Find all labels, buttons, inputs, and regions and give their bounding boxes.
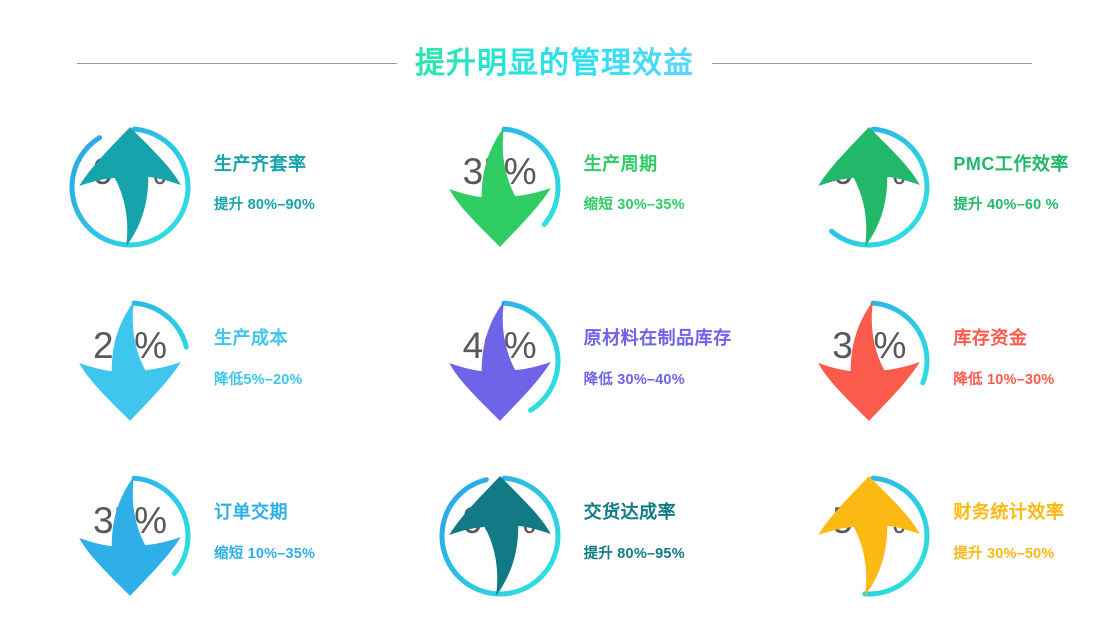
metric-card: 20%生产成本降低5%–20% bbox=[0, 274, 370, 448]
metric-text-block: 生产周期缩短 30%–35% bbox=[584, 154, 685, 215]
metric-text-block: 订单交期缩短 10%–35% bbox=[214, 502, 315, 563]
dial-center: 35% bbox=[64, 470, 196, 602]
metric-card: 60%PMC工作效率提升 40%–60 % bbox=[739, 100, 1109, 274]
metric-card: 30%库存资金降低 10%–30% bbox=[739, 274, 1109, 448]
metric-label: PMC工作效率 bbox=[953, 154, 1069, 176]
metric-label: 财务统计效率 bbox=[953, 502, 1064, 524]
metric-sublabel: 降低5%–20% bbox=[214, 372, 303, 389]
metric-sublabel: 降低 10%–30% bbox=[953, 372, 1054, 389]
metric-card: 35%生产周期缩短 30%–35% bbox=[370, 100, 740, 274]
metric-text-block: 交货达成率提升 80%–95% bbox=[584, 502, 685, 563]
progress-ring: 40% bbox=[434, 295, 566, 427]
title-divider-right bbox=[712, 63, 1032, 64]
title-divider-left bbox=[77, 63, 397, 64]
metric-sublabel: 提升 80%–95% bbox=[584, 546, 685, 563]
progress-ring: 35% bbox=[434, 121, 566, 253]
metric-card: 90%生产齐套率提升 80%–90% bbox=[0, 100, 370, 274]
page-title: 提升明显的管理效益 bbox=[415, 47, 694, 80]
metric-label: 库存资金 bbox=[953, 328, 1027, 350]
dial-center: 50% bbox=[803, 470, 935, 602]
metric-sublabel: 提升 40%–60 % bbox=[953, 197, 1058, 214]
metric-card: 40%原材料在制品库存降低 30%–40% bbox=[370, 274, 740, 448]
progress-ring: 60% bbox=[803, 121, 935, 253]
metric-text-block: PMC工作效率提升 40%–60 % bbox=[953, 154, 1069, 215]
metric-card: 50%财务统计效率提升 30%–50% bbox=[739, 449, 1109, 623]
metric-label: 交货达成率 bbox=[584, 502, 677, 524]
progress-ring: 50% bbox=[803, 470, 935, 602]
metric-label: 生产周期 bbox=[584, 154, 658, 176]
progress-ring: 20% bbox=[64, 295, 196, 427]
metrics-grid: 90%生产齐套率提升 80%–90%35%生产周期缩短 30%–35%60%PM… bbox=[0, 100, 1109, 623]
dial-center: 90% bbox=[64, 121, 196, 253]
dial-center: 30% bbox=[803, 295, 935, 427]
dial-center: 60% bbox=[803, 121, 935, 253]
metric-label: 生产成本 bbox=[214, 328, 288, 350]
infographic-page: 提升明显的管理效益 90%生产齐套率提升 80%–90%35%生产周期缩短 30… bbox=[0, 0, 1109, 623]
metric-sublabel: 提升 80%–90% bbox=[214, 197, 315, 214]
metric-label: 原材料在制品库存 bbox=[584, 328, 732, 350]
metric-card: 35%订单交期缩短 10%–35% bbox=[0, 449, 370, 623]
dial-center: 20% bbox=[64, 295, 196, 427]
dial-center: 35% bbox=[434, 121, 566, 253]
metric-label: 订单交期 bbox=[214, 502, 288, 524]
metric-sublabel: 提升 30%–50% bbox=[953, 546, 1054, 563]
metric-card: 95%交货达成率提升 80%–95% bbox=[370, 449, 740, 623]
metric-text-block: 库存资金降低 10%–30% bbox=[953, 328, 1054, 389]
progress-ring: 95% bbox=[434, 470, 566, 602]
metric-text-block: 生产成本降低5%–20% bbox=[214, 328, 303, 389]
dial-center: 95% bbox=[434, 470, 566, 602]
metric-sublabel: 缩短 10%–35% bbox=[214, 546, 315, 563]
metric-text-block: 财务统计效率提升 30%–50% bbox=[953, 502, 1064, 563]
dial-center: 40% bbox=[434, 295, 566, 427]
progress-ring: 30% bbox=[803, 295, 935, 427]
page-header: 提升明显的管理效益 bbox=[0, 38, 1109, 88]
metric-sublabel: 降低 30%–40% bbox=[584, 372, 685, 389]
progress-ring: 35% bbox=[64, 470, 196, 602]
metric-text-block: 生产齐套率提升 80%–90% bbox=[214, 154, 315, 215]
progress-ring: 90% bbox=[64, 121, 196, 253]
metric-label: 生产齐套率 bbox=[214, 154, 307, 176]
metric-text-block: 原材料在制品库存降低 30%–40% bbox=[584, 328, 732, 389]
metric-sublabel: 缩短 30%–35% bbox=[584, 197, 685, 214]
